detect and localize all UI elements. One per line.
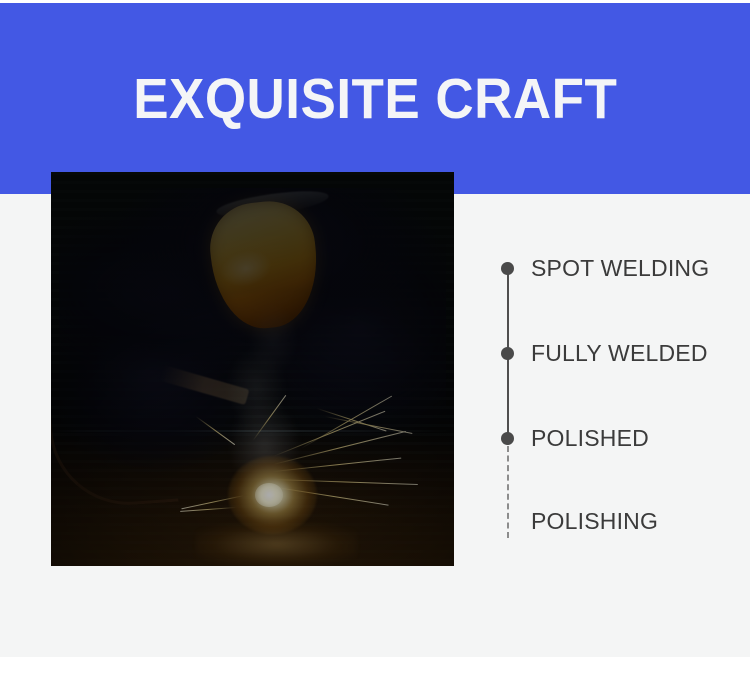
timeline-item-label: POLISHING — [531, 510, 658, 533]
timeline-dot-icon — [501, 347, 514, 360]
header-band: EXQUISITE CRAFT — [0, 3, 750, 194]
timeline-item-fully-welded[interactable]: FULLY WELDED — [501, 338, 708, 368]
process-timeline: SPOT WELDING FULLY WELDED POLISHED POLIS… — [501, 250, 731, 550]
timeline-dot-placeholder — [501, 515, 514, 528]
craft-banner-page: EXQUISITE CRAFT — [0, 0, 750, 680]
timeline-dot-icon — [501, 432, 514, 445]
timeline-item-label: POLISHED — [531, 427, 649, 450]
timeline-item-spot-welding[interactable]: SPOT WELDING — [501, 253, 709, 283]
timeline-item-label: FULLY WELDED — [531, 342, 708, 365]
page-title: EXQUISITE CRAFT — [133, 71, 617, 128]
timeline-item-polished[interactable]: POLISHED — [501, 423, 649, 453]
weld-arc-core — [255, 483, 283, 507]
timeline-item-label: SPOT WELDING — [531, 257, 709, 280]
photo-canvas — [51, 172, 454, 566]
timeline-dot-icon — [501, 262, 514, 275]
timeline-item-polishing[interactable]: POLISHING — [501, 506, 658, 536]
floor-reflection — [196, 523, 357, 566]
welding-photo — [51, 172, 454, 566]
